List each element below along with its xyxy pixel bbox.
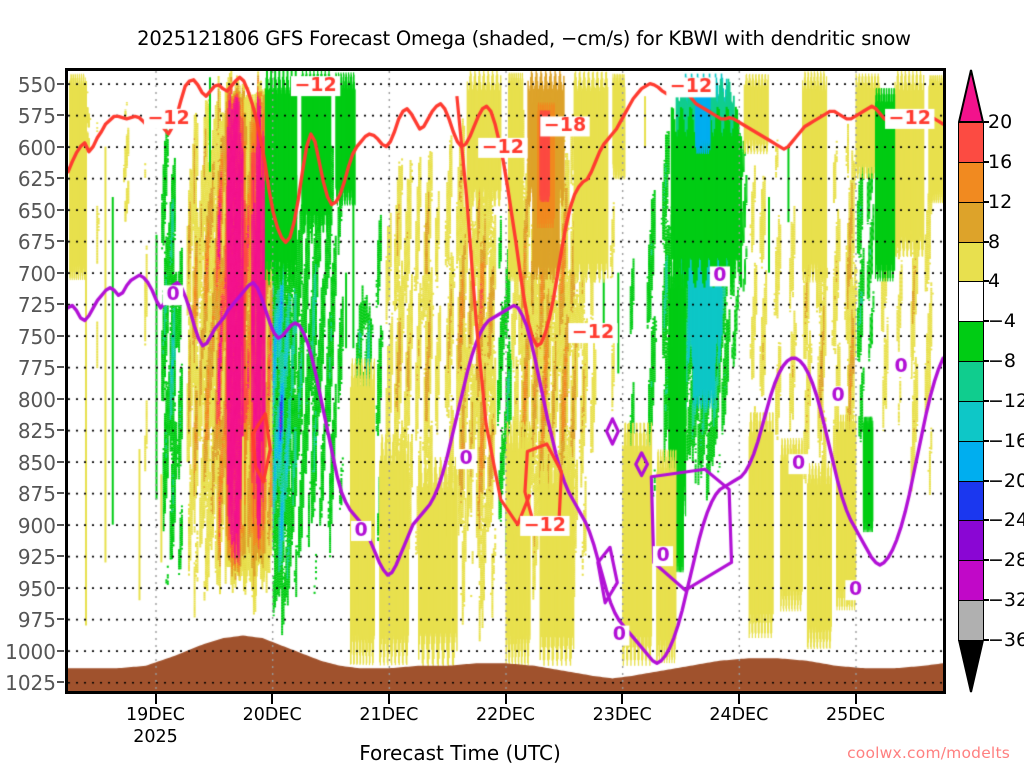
x-tick-label: 20DEC <box>243 705 302 725</box>
colorbar-tick-mark <box>984 599 989 601</box>
colorbar-under-arrow <box>958 640 984 694</box>
colorbar-tick-label: −4 <box>988 310 1016 332</box>
colorbar-tick-label: −24 <box>988 509 1024 531</box>
colorbar-over-arrow <box>958 68 984 122</box>
x-tick-mark <box>621 693 623 704</box>
colorbar-tick-label: −12 <box>988 390 1024 412</box>
colorbar-tick-label: −32 <box>988 589 1024 611</box>
colorbar-tick-mark <box>984 440 989 442</box>
colorbar-tick-label: 16 <box>988 151 1012 173</box>
colorbar-tick-mark <box>984 559 989 561</box>
x-tick-mark <box>505 693 507 704</box>
colorbar-tick-mark <box>984 121 989 123</box>
colorbar-swatch[interactable] <box>958 162 984 203</box>
colorbar-swatch[interactable] <box>958 361 984 402</box>
x-tick-mark <box>388 693 390 704</box>
colorbar-tick-label: −16 <box>988 430 1024 452</box>
colorbar-tick-mark <box>984 639 989 641</box>
colorbar-tick-label: 12 <box>988 191 1012 213</box>
colorbar-tick-mark <box>984 201 989 203</box>
colorbar-swatch[interactable] <box>958 481 984 522</box>
colorbar-swatch[interactable] <box>958 600 984 641</box>
x-tick-label: 23DEC <box>593 705 652 725</box>
watermark: coolwx.com/modelts <box>847 744 1010 762</box>
colorbar[interactable]: 20161284−4−8−12−16−20−24−28−32−36 <box>958 68 984 694</box>
colorbar-swatch[interactable] <box>958 122 984 163</box>
colorbar-tick-mark <box>984 241 989 243</box>
colorbar-swatch[interactable] <box>958 202 984 243</box>
x-tick-label: 19DEC <box>126 705 185 725</box>
colorbar-tick-mark <box>984 480 989 482</box>
colorbar-swatch[interactable] <box>958 560 984 601</box>
colorbar-swatch[interactable] <box>958 441 984 482</box>
colorbar-tick-label: 4 <box>988 270 1000 292</box>
colorbar-tick-label: −36 <box>988 629 1024 651</box>
x-tick-label: 25DEC <box>826 705 885 725</box>
colorbar-swatch[interactable] <box>958 281 984 322</box>
colorbar-tick-label: 20 <box>988 111 1012 133</box>
colorbar-tick-label: −8 <box>988 350 1016 372</box>
colorbar-tick-mark <box>984 400 989 402</box>
x-tick-label: 22DEC <box>476 705 535 725</box>
x-tick-mark <box>155 693 157 704</box>
x-tick-mark <box>855 693 857 704</box>
x-tick-mark <box>271 693 273 704</box>
colorbar-swatch[interactable] <box>958 520 984 561</box>
colorbar-tick-label: −28 <box>988 549 1024 571</box>
colorbar-tick-mark <box>984 161 989 163</box>
x-tick-label: 21DEC <box>359 705 418 725</box>
colorbar-swatch[interactable] <box>958 321 984 362</box>
colorbar-tick-label: 8 <box>988 231 1000 253</box>
colorbar-tick-mark <box>984 320 989 322</box>
x-tick-label: 24DEC <box>709 705 768 725</box>
x-axis: 19DEC20DEC21DEC22DEC23DEC24DEC25DEC <box>0 0 1024 768</box>
colorbar-tick-mark <box>984 360 989 362</box>
colorbar-swatch[interactable] <box>958 401 984 442</box>
colorbar-swatch[interactable] <box>958 242 984 283</box>
colorbar-tick-mark <box>984 519 989 521</box>
x-tick-mark <box>738 693 740 704</box>
colorbar-tick-mark <box>984 280 989 282</box>
x-axis-title: Forecast Time (UTC) <box>0 741 920 765</box>
colorbar-tick-label: −20 <box>988 470 1024 492</box>
